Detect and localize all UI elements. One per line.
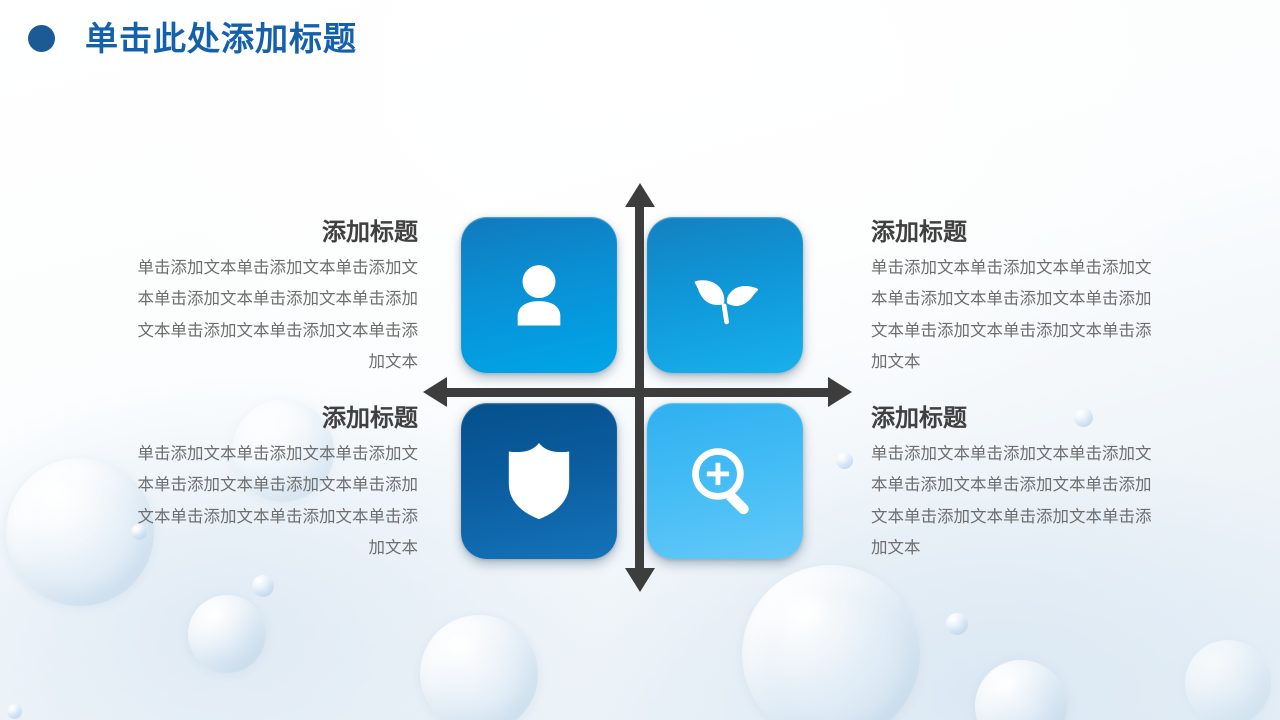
- bubble-decoration: [975, 660, 1067, 720]
- bubble-decoration: [188, 595, 266, 673]
- arrow-down-icon: [625, 568, 655, 592]
- shield-icon: [502, 439, 576, 523]
- block-heading[interactable]: 添加标题: [871, 218, 1167, 248]
- block-heading[interactable]: 添加标题: [871, 404, 1167, 434]
- text-block-top-left: 添加标题 单击添加文本单击添加文本单击添加文本单击添加文本单击添加文本单击添加文…: [122, 218, 418, 377]
- arrow-up-icon: [625, 183, 655, 207]
- person-icon: [500, 256, 578, 334]
- magnifier-plus-icon: [684, 440, 766, 522]
- tile-top-left[interactable]: [461, 217, 617, 373]
- tile-bottom-left[interactable]: [461, 403, 617, 559]
- title-bullet-icon: [28, 25, 55, 52]
- arrow-right-icon: [828, 377, 852, 407]
- bubble-decoration: [420, 615, 538, 720]
- horizontal-axis-line: [442, 388, 834, 397]
- quadrant-diagram: [425, 185, 850, 590]
- arrow-left-icon: [423, 377, 447, 407]
- block-body[interactable]: 单击添加文本单击添加文本单击添加文本单击添加文本单击添加文本单击添加文本单击添加…: [122, 252, 418, 377]
- block-body[interactable]: 单击添加文本单击添加文本单击添加文本单击添加文本单击添加文本单击添加文本单击添加…: [871, 252, 1167, 377]
- text-block-bottom-left: 添加标题 单击添加文本单击添加文本单击添加文本单击添加文本单击添加文本单击添加文…: [122, 404, 418, 563]
- slide-canvas: 单击此处添加标题 添加标题 单击添加文本单击添加文本单击添加文本单击添加文本单击…: [0, 0, 1280, 720]
- block-body[interactable]: 单击添加文本单击添加文本单击添加文本单击添加文本单击添加文本单击添加文本单击添加…: [122, 438, 418, 563]
- bubble-decoration: [946, 613, 968, 635]
- text-block-bottom-right: 添加标题 单击添加文本单击添加文本单击添加文本单击添加文本单击添加文本单击添加文…: [871, 404, 1167, 563]
- bubble-decoration: [252, 575, 274, 597]
- page-title[interactable]: 单击此处添加标题: [85, 22, 357, 55]
- sprout-leaf-icon: [683, 253, 767, 337]
- block-heading[interactable]: 添加标题: [122, 218, 418, 248]
- block-body[interactable]: 单击添加文本单击添加文本单击添加文本单击添加文本单击添加文本单击添加文本单击添加…: [871, 438, 1167, 563]
- block-heading[interactable]: 添加标题: [122, 404, 418, 434]
- bubble-decoration: [7, 704, 22, 719]
- bubble-decoration: [1185, 640, 1271, 720]
- tile-bottom-right[interactable]: [647, 403, 803, 559]
- slide-title-row: 单击此处添加标题: [28, 22, 357, 55]
- text-block-top-right: 添加标题 单击添加文本单击添加文本单击添加文本单击添加文本单击添加文本单击添加文…: [871, 218, 1167, 377]
- tile-top-right[interactable]: [647, 217, 803, 373]
